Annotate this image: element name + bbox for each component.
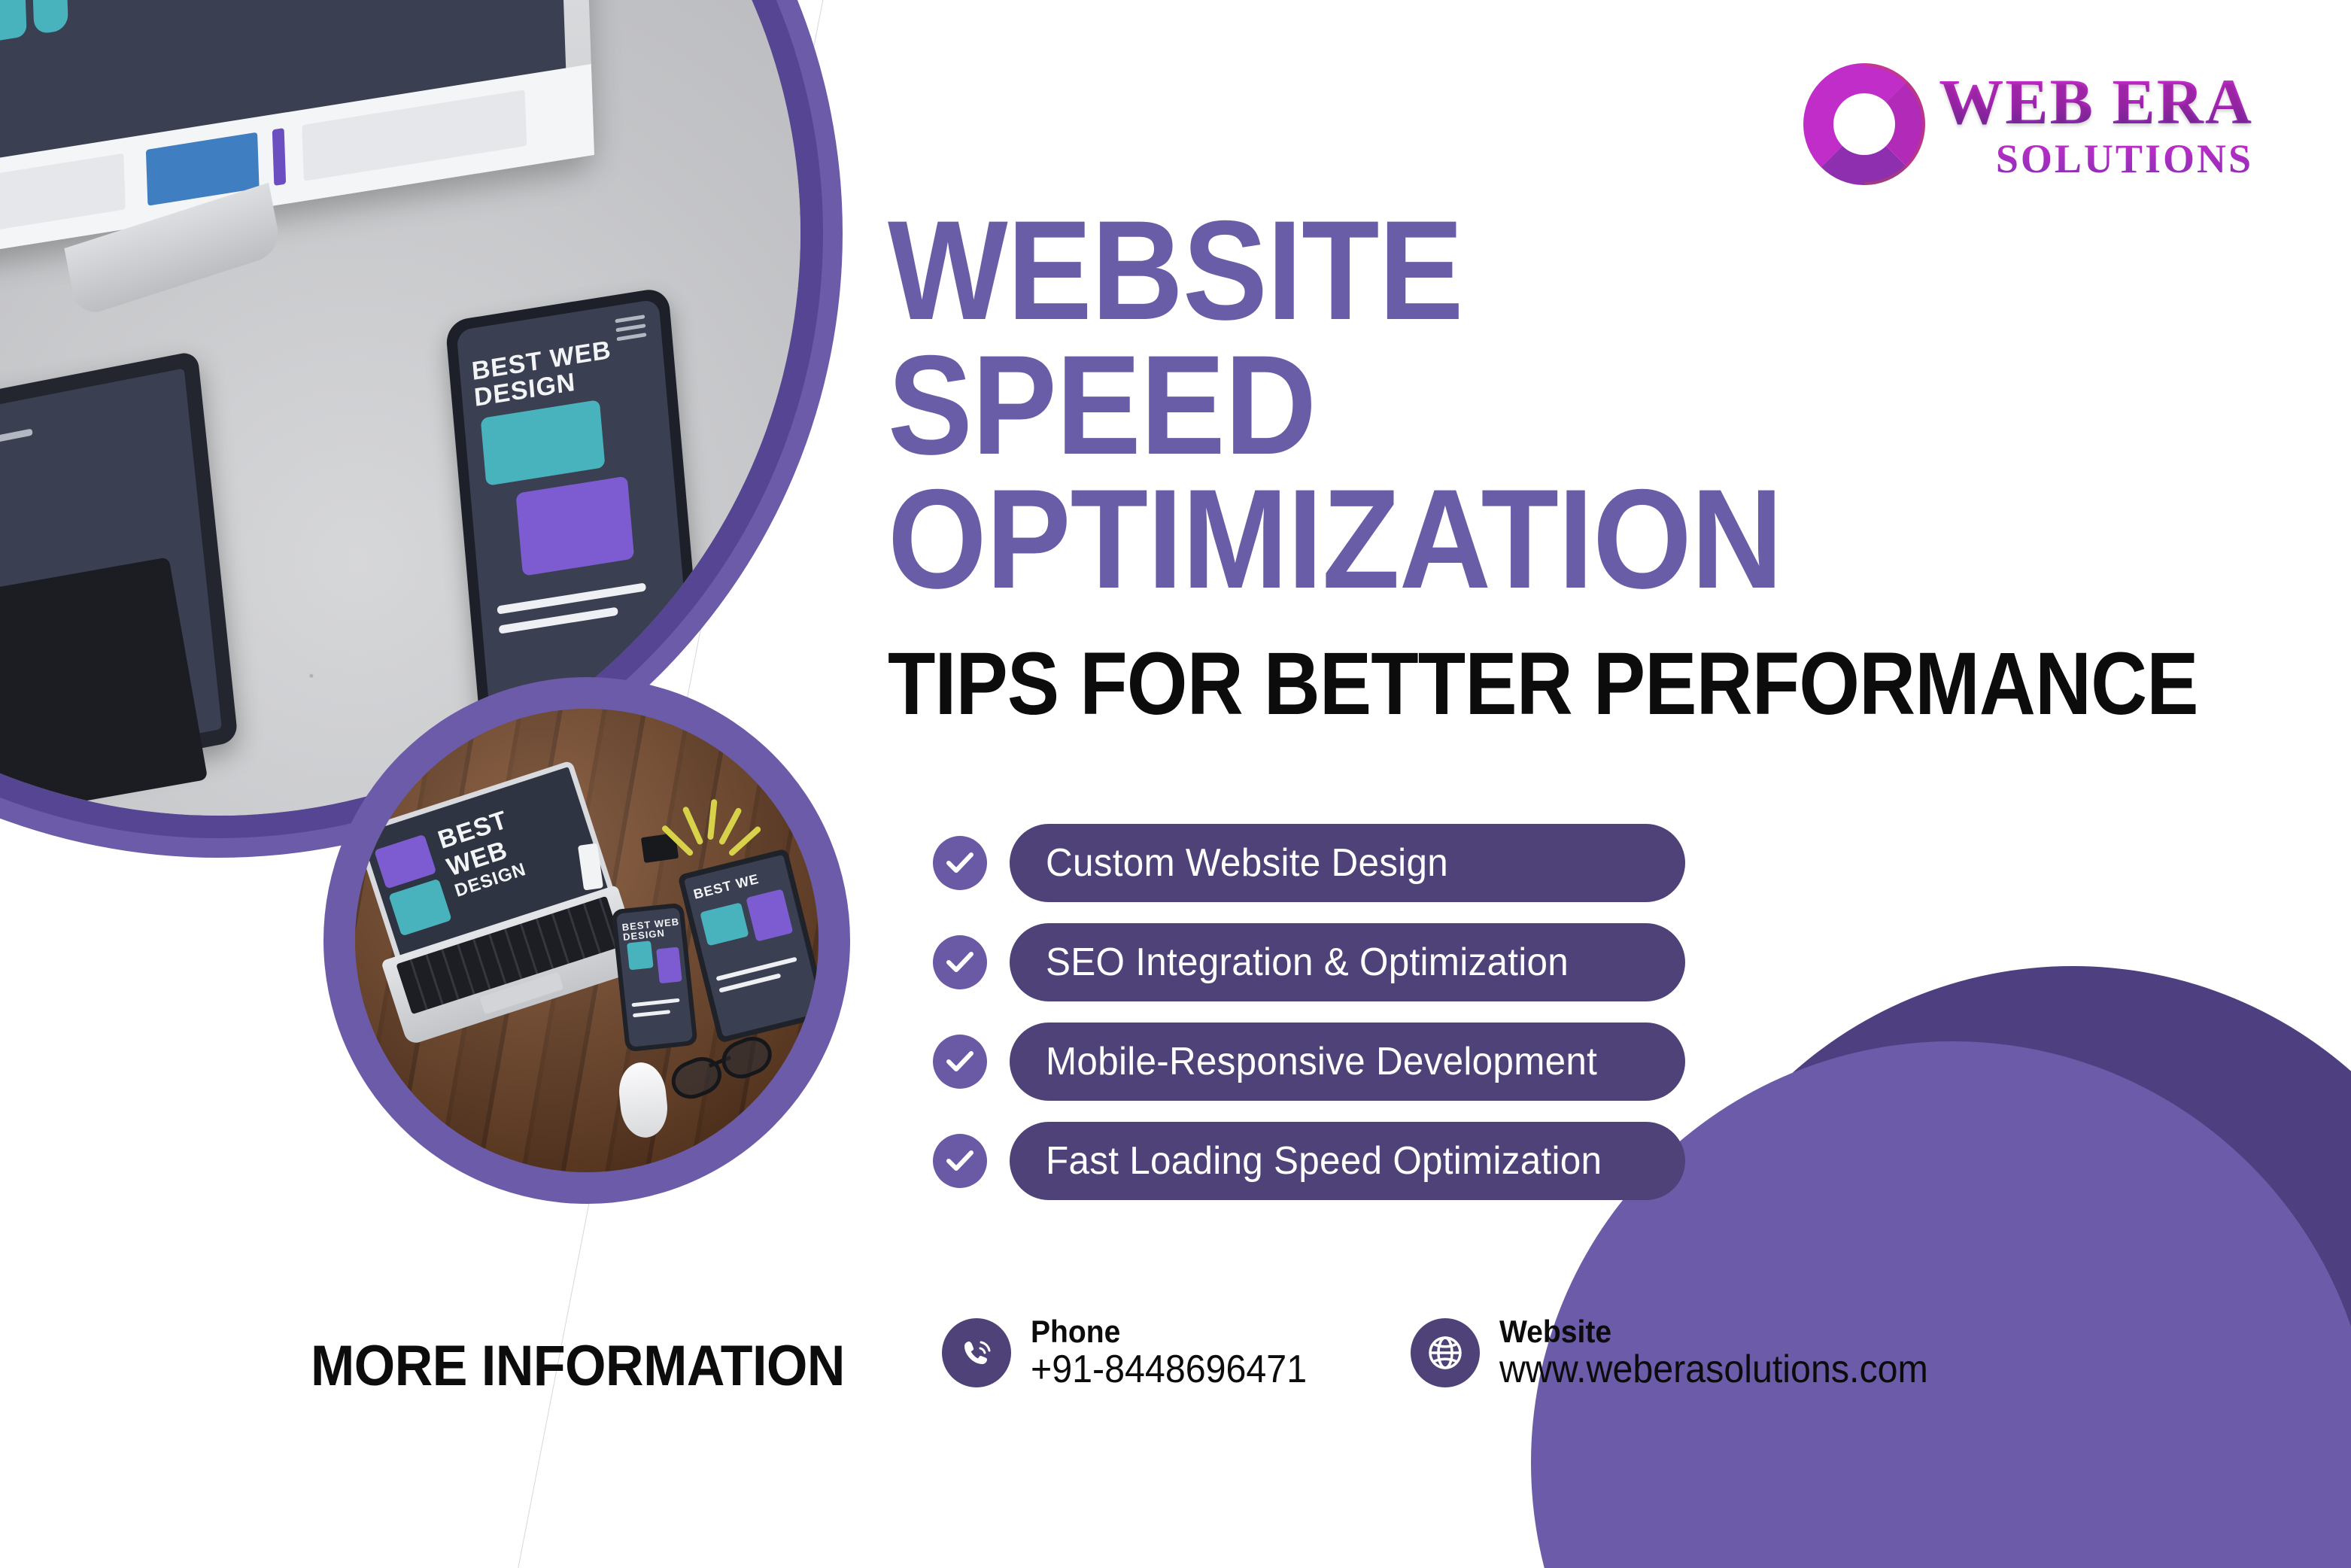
headline-block: WEBSITE SPEED OPTIMIZATION TIPS FOR BETT… (888, 203, 2212, 728)
headline-line-2: SPEED (888, 338, 2079, 473)
check-icon (933, 935, 987, 989)
logo-sub-text: SOLUTIONS (1939, 138, 2253, 179)
feature-label: Custom Website Design (1046, 840, 1448, 886)
inset-plant (668, 799, 758, 889)
contact-website-text: Website www.weberasolutions.com (1499, 1315, 1961, 1390)
inset-photo-image: BEST WEB DESIGN BEST WEB DESIGN (355, 709, 819, 1172)
inset-photo-circle: BEST WEB DESIGN BEST WEB DESIGN (323, 677, 850, 1204)
poster-canvas: BEST WEB DESIGN BEST WEB DESIGN (0, 0, 2351, 1568)
feature-pill[interactable]: Mobile-Responsive Development (1010, 1023, 1685, 1101)
logo-ring-icon (1803, 63, 1925, 185)
contact-phone-title: Phone (1031, 1315, 1307, 1349)
check-icon (933, 836, 987, 890)
contact-phone-text: Phone +91-8448696471 (1031, 1315, 1328, 1390)
list-item[interactable]: Custom Website Design (933, 824, 1685, 902)
feature-label: Mobile-Responsive Development (1046, 1039, 1597, 1084)
page-title: WEBSITE SPEED OPTIMIZATION (888, 203, 2079, 606)
brand-logo: WEB ERA SOLUTIONS (1803, 63, 2253, 185)
contact-block: Phone +91-8448696471 Website www.weberas… (942, 1315, 1960, 1390)
globe-icon (1411, 1318, 1480, 1387)
inset-phone: BEST WEB DESIGN (611, 903, 697, 1053)
more-information-label: MORE INFORMATION (311, 1333, 845, 1399)
list-item[interactable]: Mobile-Responsive Development (933, 1023, 1685, 1101)
contact-website-value: www.weberasolutions.com (1499, 1349, 1928, 1390)
feature-list: Custom Website Design SEO Integration & … (933, 824, 1685, 1221)
mockup-phone: BEST WEB DESIGN (445, 287, 704, 743)
contact-phone-value: +91-8448696471 (1031, 1349, 1307, 1390)
check-icon (933, 1134, 987, 1188)
phone-icon (942, 1318, 1011, 1387)
contact-website-title: Website (1499, 1315, 1928, 1349)
logo-main-text: WEB ERA (1939, 69, 2253, 134)
list-item[interactable]: SEO Integration & Optimization (933, 923, 1685, 1001)
contact-website[interactable]: Website www.weberasolutions.com (1411, 1315, 1961, 1390)
feature-pill[interactable]: SEO Integration & Optimization (1010, 923, 1685, 1001)
list-item[interactable]: Fast Loading Speed Optimization (933, 1122, 1685, 1200)
feature-label: Fast Loading Speed Optimization (1046, 1138, 1602, 1184)
check-icon (933, 1035, 987, 1089)
feature-label: SEO Integration & Optimization (1046, 940, 1569, 985)
logo-wordmark: WEB ERA SOLUTIONS (1939, 69, 2253, 179)
feature-pill[interactable]: Fast Loading Speed Optimization (1010, 1122, 1685, 1200)
feature-pill[interactable]: Custom Website Design (1010, 824, 1685, 902)
headline-line-1: WEBSITE (888, 203, 2079, 338)
subheadline: TIPS FOR BETTER PERFORMANCE (888, 640, 2053, 728)
contact-phone[interactable]: Phone +91-8448696471 (942, 1315, 1328, 1390)
headline-line-3: OPTIMIZATION (888, 472, 2079, 606)
